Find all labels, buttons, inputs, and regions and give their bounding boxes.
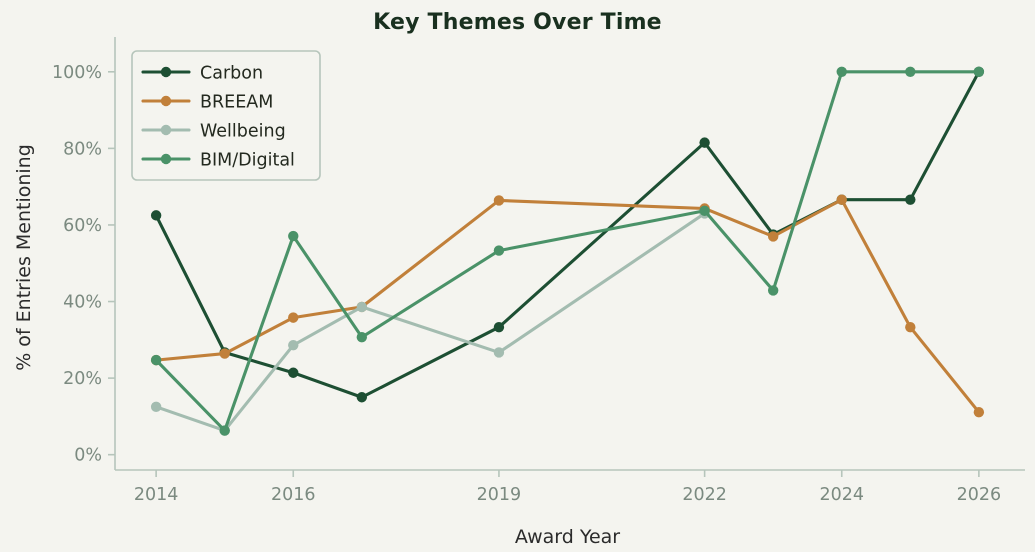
data-point <box>288 231 298 241</box>
x-tick-label: 2019 <box>477 485 522 505</box>
data-point <box>905 322 915 332</box>
x-tick-label: 2014 <box>134 485 179 505</box>
data-point <box>494 347 504 357</box>
chart-container: Key Themes Over Time 0%20%40%60%80%100%2… <box>0 0 1035 552</box>
legend-marker-bim-digital <box>161 154 171 164</box>
x-tick-label: 2016 <box>271 485 316 505</box>
data-point <box>837 194 847 204</box>
data-point <box>768 231 778 241</box>
data-point <box>288 312 298 322</box>
data-point <box>151 210 161 220</box>
legend-marker-wellbeing <box>161 125 171 135</box>
data-point <box>494 195 504 205</box>
y-tick-label: 100% <box>52 63 102 83</box>
legend-label-bim-digital: BIM/Digital <box>200 151 295 171</box>
data-point <box>699 206 709 216</box>
data-point <box>151 355 161 365</box>
y-axis-title: % of Entries Mentioning <box>13 144 35 371</box>
y-tick-label: 40% <box>63 293 102 313</box>
data-point <box>699 137 709 147</box>
x-tick-label: 2022 <box>682 485 727 505</box>
data-point <box>219 425 229 435</box>
line-chart-plot: 0%20%40%60%80%100%2014201620192022202420… <box>0 0 1035 552</box>
x-tick-label: 2026 <box>957 485 1002 505</box>
data-point <box>357 392 367 402</box>
legend-label-carbon: Carbon <box>200 64 263 84</box>
legend-marker-carbon <box>161 67 171 77</box>
data-point <box>357 332 367 342</box>
data-point <box>494 322 504 332</box>
legend-marker-breeam <box>161 96 171 106</box>
data-point <box>768 285 778 295</box>
data-point <box>974 407 984 417</box>
x-tick-label: 2024 <box>819 485 864 505</box>
data-point <box>151 402 161 412</box>
data-point <box>219 348 229 358</box>
data-point <box>288 368 298 378</box>
data-point <box>837 67 847 77</box>
y-tick-label: 0% <box>74 446 102 466</box>
legend: CarbonBREEAMWellbeingBIM/Digital <box>132 51 320 180</box>
x-axis-title: Award Year <box>515 526 620 548</box>
data-point <box>494 245 504 255</box>
data-point <box>288 340 298 350</box>
legend-label-wellbeing: Wellbeing <box>200 122 286 142</box>
data-point <box>905 194 915 204</box>
y-tick-label: 20% <box>63 369 102 389</box>
y-tick-label: 80% <box>63 139 102 159</box>
series-line <box>156 213 704 430</box>
data-point <box>905 67 915 77</box>
legend-label-breeam: BREEAM <box>200 93 273 113</box>
data-point <box>357 302 367 312</box>
y-tick-label: 60% <box>63 216 102 236</box>
data-point <box>974 67 984 77</box>
